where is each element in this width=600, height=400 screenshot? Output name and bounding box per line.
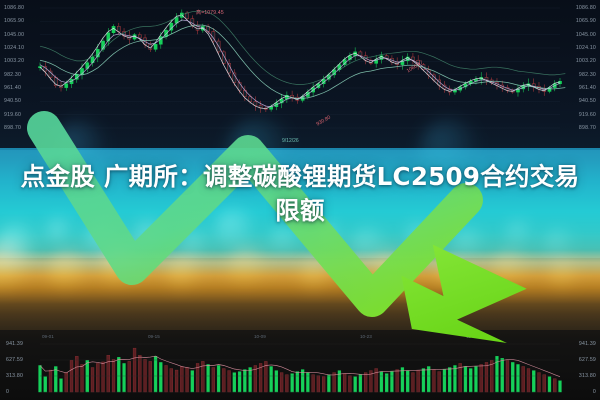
page-title: 点金股 广期所：调整碳酸锂期货LC2509合约交易限额 xyxy=(0,160,600,228)
screenshot-root: 1086.801065.901045.001024.101003.20982.3… xyxy=(0,0,600,400)
